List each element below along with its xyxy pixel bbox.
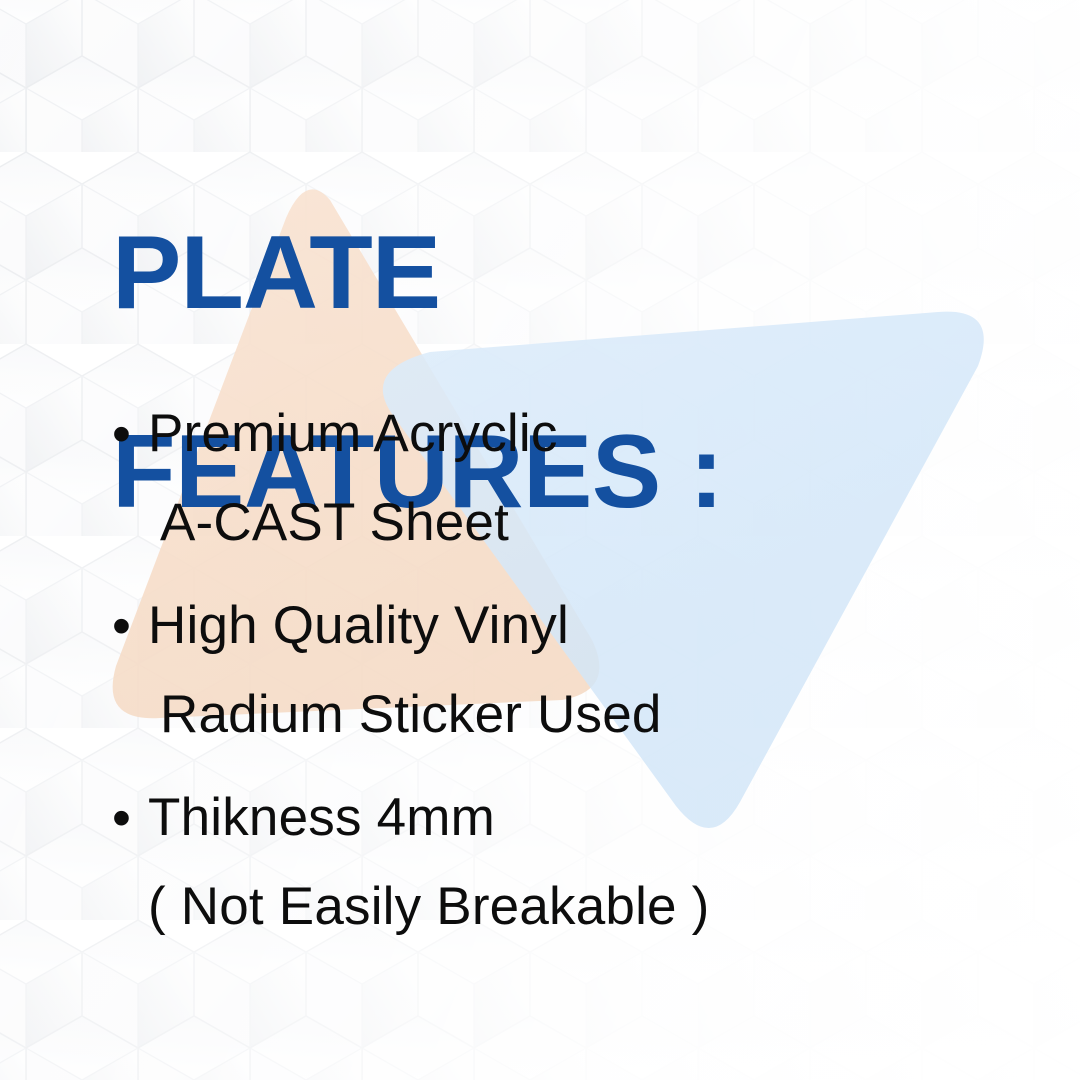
- feature-list: • Premium Acryclic A-CAST Sheet • High Q…: [104, 392, 1004, 968]
- content-layer: PLATE FEATURES : • Premium Acryclic A-CA…: [0, 0, 1080, 1080]
- list-item-line-2: A-CAST Sheet: [160, 476, 1004, 570]
- list-item: • Thikness 4mm ( Not Easily Breakable ): [104, 776, 1004, 954]
- list-item-line-1: Thikness 4mm: [148, 776, 1004, 860]
- list-item-line-1: Premium Acryclic: [148, 392, 1004, 476]
- list-item-line-1: High Quality Vinyl: [148, 584, 1004, 668]
- list-item-line-2: ( Not Easily Breakable ): [148, 860, 1004, 954]
- list-item: • High Quality Vinyl Radium Sticker Used: [104, 584, 1004, 762]
- page-title-line-1: PLATE: [112, 224, 1012, 324]
- bullet-dot-icon: •: [104, 584, 148, 668]
- list-item-line-2: Radium Sticker Used: [160, 668, 1004, 762]
- bullet-dot-icon: •: [104, 776, 148, 860]
- product-feature-graphic: PLATE FEATURES : • Premium Acryclic A-CA…: [0, 0, 1080, 1080]
- list-item: • Premium Acryclic A-CAST Sheet: [104, 392, 1004, 570]
- bullet-dot-icon: •: [104, 392, 148, 476]
